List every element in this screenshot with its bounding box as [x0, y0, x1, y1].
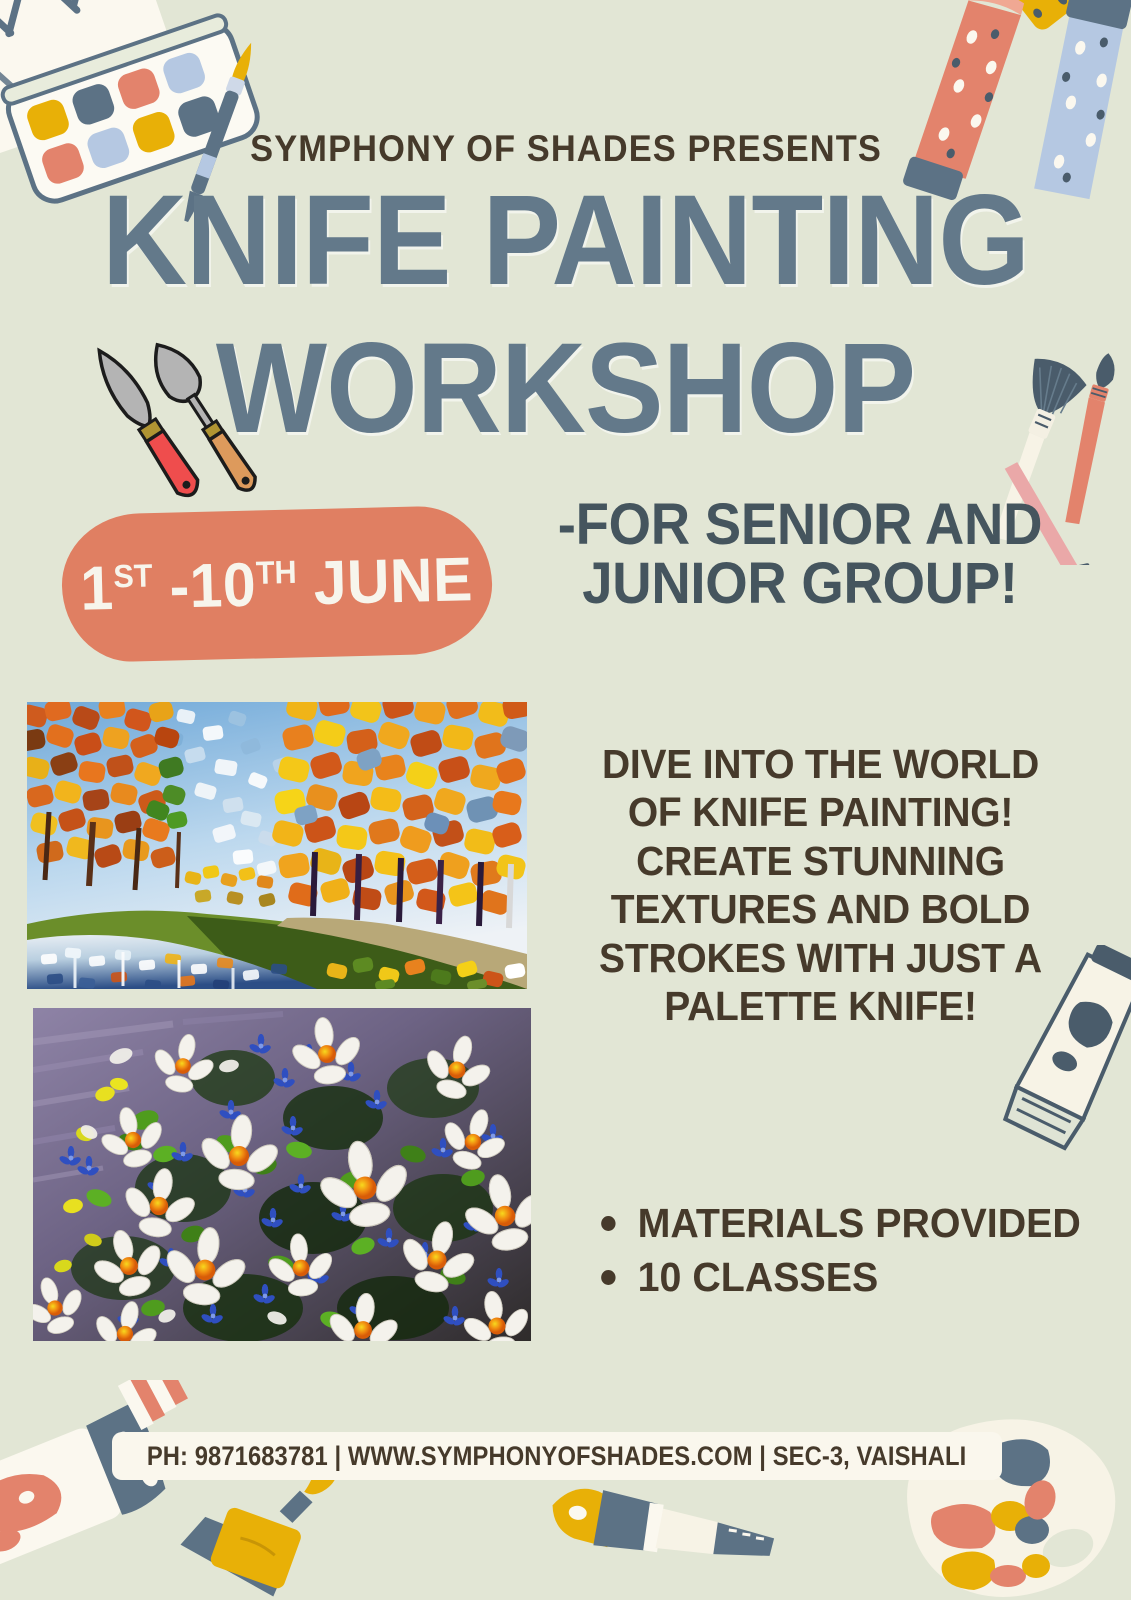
page-title-line1: KNIFE PAINTING	[45, 182, 1086, 300]
list-item: 10 CLASSES	[595, 1250, 1094, 1304]
date-day-end: 10	[189, 550, 257, 621]
date-day-end-suffix: TH	[256, 553, 298, 590]
list-item: MATERIALS PROVIDED	[595, 1196, 1094, 1250]
page-subtitle: -FOR SENIOR AND JUNIOR GROUP!	[532, 495, 1068, 613]
date-badge-text: 1ST -10TH JUNE	[80, 544, 474, 625]
contact-footer-text: PH: 9871683781 | WWW.SYMPHONYOFSHADES.CO…	[147, 1441, 966, 1472]
artwork-daisies	[33, 1008, 531, 1341]
artwork-autumn-river	[27, 702, 527, 989]
features-list: MATERIALS PROVIDED 10 CLASSES	[595, 1196, 1094, 1304]
description-text: DIVE INTO THE WORLD OF KNIFE PAINTING! C…	[571, 740, 1070, 1030]
date-dash: -	[152, 552, 191, 622]
date-day-start-suffix: ST	[113, 557, 153, 594]
date-badge: 1ST -10TH JUNE	[60, 505, 493, 663]
date-month: JUNE	[297, 545, 474, 618]
page-title-line2: WORKSHOP	[45, 330, 1086, 448]
date-day-start: 1	[80, 553, 115, 623]
brand-presents-line: SYMPHONY OF SHADES PRESENTS	[40, 128, 1092, 170]
poster-canvas: SYMPHONY OF SHADES PRESENTS KNIFE PAINTI…	[0, 0, 1131, 1600]
contact-footer-bar: PH: 9871683781 | WWW.SYMPHONYOFSHADES.CO…	[112, 1432, 1002, 1480]
